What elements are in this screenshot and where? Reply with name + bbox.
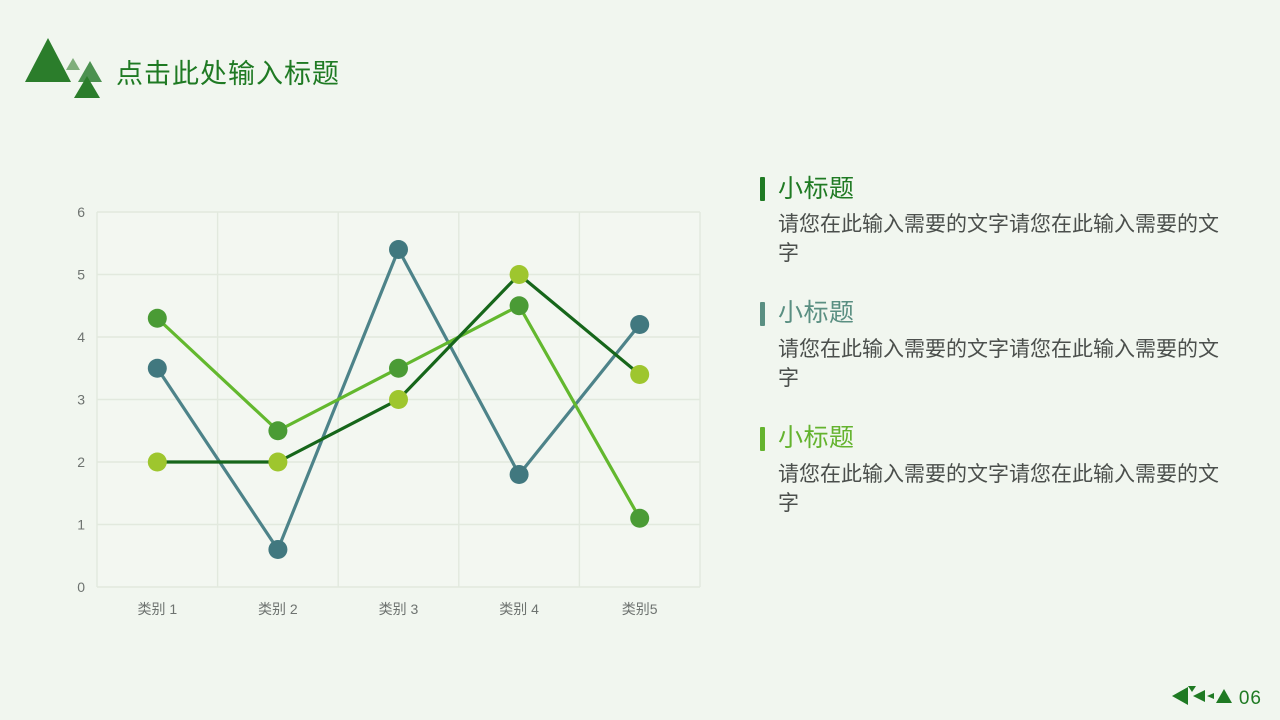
svg-text:3: 3 xyxy=(77,392,85,408)
svg-text:4: 4 xyxy=(77,329,85,345)
page-nav-triangles-icon[interactable] xyxy=(1171,685,1233,712)
chart-x-axis-labels: 类别 1类别 2类别 3类别 4类别5 xyxy=(137,601,657,617)
data-point xyxy=(389,390,408,409)
svg-text:0: 0 xyxy=(77,579,85,595)
accent-bar-icon xyxy=(760,302,765,326)
svg-text:6: 6 xyxy=(77,204,85,220)
text-block-3-heading: 小标题 xyxy=(760,422,1260,456)
data-point xyxy=(268,421,287,440)
text-block-3-title: 小标题 xyxy=(778,426,855,451)
data-point xyxy=(630,509,649,528)
text-block-2-title: 小标题 xyxy=(778,301,855,326)
text-block-1-heading: 小标题 xyxy=(760,172,1260,206)
data-point xyxy=(268,540,287,559)
x-axis-label: 类别 4 xyxy=(499,601,539,617)
text-block-2-heading: 小标题 xyxy=(760,297,1260,331)
data-point xyxy=(389,240,408,259)
page-number: 06 xyxy=(1239,689,1262,708)
text-block-1-body: 请您在此输入需要的文字请您在此输入需要的文字 xyxy=(778,211,1238,269)
line-chart: 0123456 类别 1类别 2类别 3类别 4类别5 xyxy=(60,195,720,625)
x-axis-label: 类别 1 xyxy=(137,601,177,617)
text-block-3-body: 请您在此输入需要的文字请您在此输入需要的文字 xyxy=(778,461,1238,519)
text-block-1-title: 小标题 xyxy=(778,177,855,202)
data-point xyxy=(148,359,167,378)
data-point xyxy=(389,359,408,378)
svg-text:5: 5 xyxy=(77,267,85,283)
svg-text:2: 2 xyxy=(77,454,85,470)
mountain-triangles-logo xyxy=(24,36,114,98)
data-point xyxy=(510,465,529,484)
data-point xyxy=(510,265,529,284)
slide-header: 点击此处输入标题 xyxy=(0,0,1280,120)
x-axis-label: 类别5 xyxy=(622,601,658,617)
text-block-2-body: 请您在此输入需要的文字请您在此输入需要的文字 xyxy=(778,336,1238,394)
data-point xyxy=(630,315,649,334)
page-title: 点击此处输入标题 xyxy=(116,61,340,88)
x-axis-label: 类别 2 xyxy=(258,601,298,617)
x-axis-label: 类别 3 xyxy=(379,601,419,617)
data-point xyxy=(148,309,167,328)
chart-y-axis-labels: 0123456 xyxy=(77,204,85,595)
accent-bar-icon xyxy=(760,427,765,451)
data-point xyxy=(630,365,649,384)
data-point xyxy=(148,453,167,472)
data-point xyxy=(268,453,287,472)
text-block-1: 小标题 请您在此输入需要的文字请您在此输入需要的文字 xyxy=(760,172,1260,269)
slide-footer: 06 xyxy=(1171,684,1262,712)
data-point xyxy=(510,296,529,315)
text-block-3: 小标题 请您在此输入需要的文字请您在此输入需要的文字 xyxy=(760,422,1260,519)
svg-text:1: 1 xyxy=(77,517,85,533)
text-block-2: 小标题 请您在此输入需要的文字请您在此输入需要的文字 xyxy=(760,297,1260,394)
text-panel: 小标题 请您在此输入需要的文字请您在此输入需要的文字 小标题 请您在此输入需要的… xyxy=(760,172,1260,547)
accent-bar-icon xyxy=(760,177,765,201)
